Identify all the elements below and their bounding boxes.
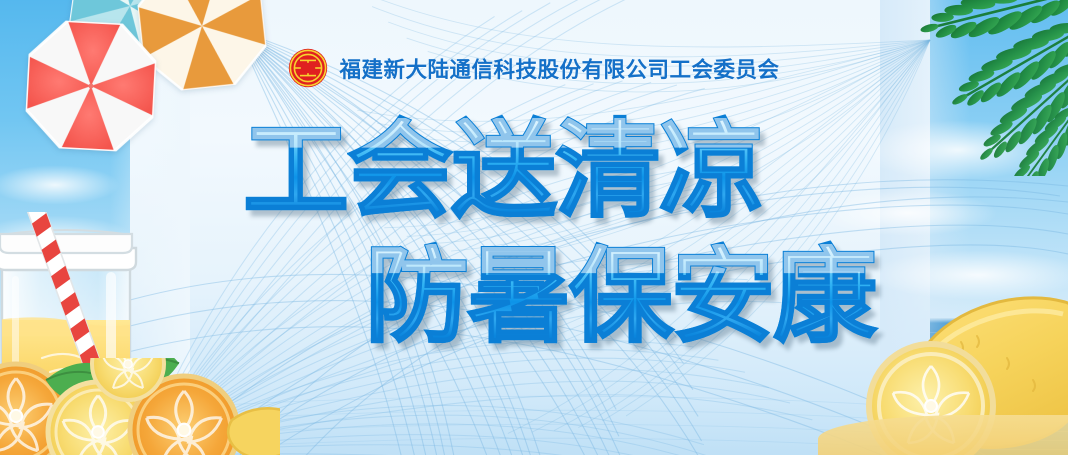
title-char: 送: [451, 118, 557, 224]
title-char: 工: [243, 118, 349, 224]
title-line-1: 工 会 送 清 凉: [0, 118, 1068, 224]
title-char: 会: [347, 118, 453, 224]
organization-name: 福建新大陆通信科技股份有限公司工会委员会: [339, 53, 779, 84]
banner-header: 福建新大陆通信科技股份有限公司工会委员会: [0, 48, 1068, 88]
summer-campaign-banner: 福建新大陆通信科技股份有限公司工会委员会 工 会 送 清 凉 防 暑 保 安 康: [0, 0, 1068, 455]
title-char: 安: [671, 244, 775, 348]
citrus-fruit-left-icon: [0, 358, 280, 455]
title-char: 康: [773, 244, 877, 348]
china-trade-union-emblem-icon: [288, 48, 328, 88]
banner-title-block: 工 会 送 清 凉 防 暑 保 安 康: [0, 118, 1068, 348]
title-line-2: 防 暑 保 安 康: [0, 244, 1068, 348]
title-char: 清: [555, 118, 661, 224]
title-char: 防: [365, 244, 469, 348]
title-char: 暑: [467, 244, 571, 348]
title-char: 保: [569, 244, 673, 348]
title-char: 凉: [659, 118, 765, 224]
